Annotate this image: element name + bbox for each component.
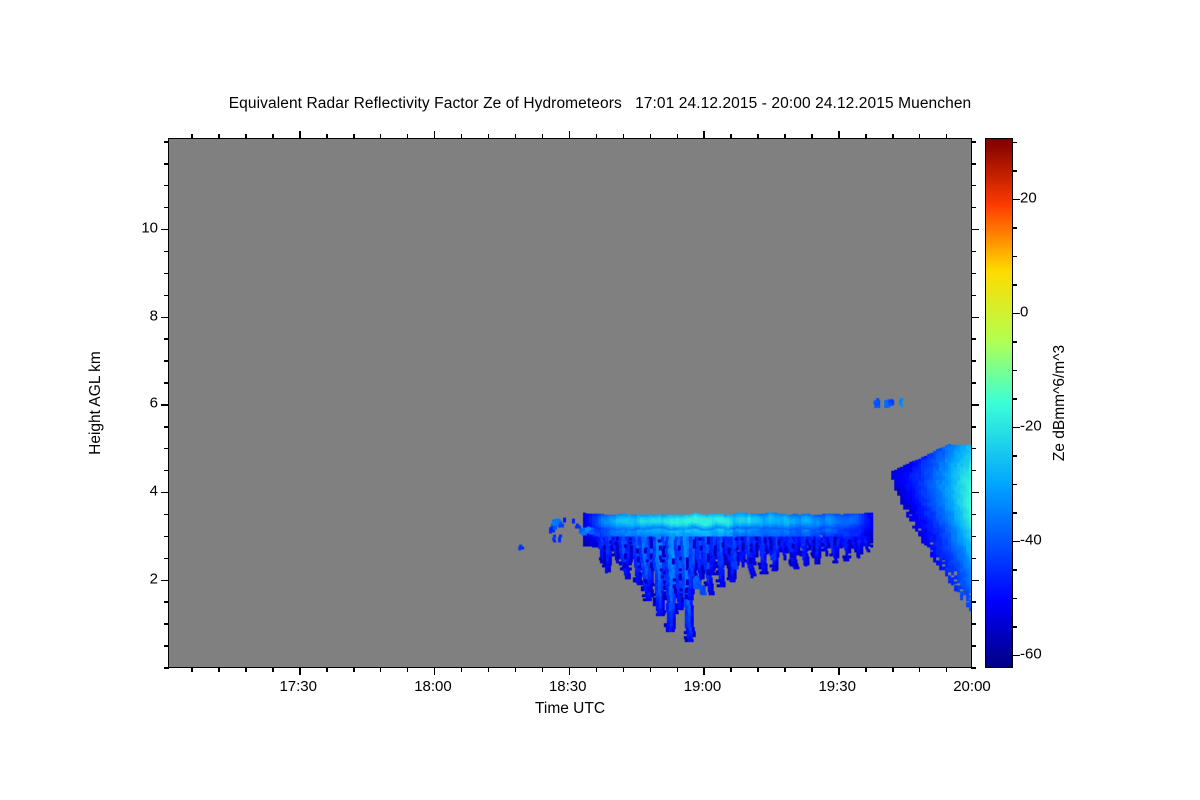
x-tick-minor (623, 667, 624, 672)
x-tick-top (919, 134, 920, 139)
x-tick-minor (650, 667, 651, 672)
x-tick-minor (865, 667, 866, 672)
colorbar-tick-major (1012, 655, 1020, 656)
y-tick-major (161, 404, 169, 405)
y-tick-major (161, 229, 169, 230)
x-tick-label: 19:30 (797, 678, 877, 695)
y-tick-label: 10 (118, 219, 158, 236)
colorbar-tick-minor (1012, 284, 1017, 285)
y-tick-right (971, 251, 976, 252)
colorbar-tick-label: 0 (1020, 303, 1028, 320)
y-tick-right (971, 492, 979, 493)
x-tick-top (677, 134, 678, 139)
x-tick-top (892, 134, 893, 139)
y-tick-right (971, 601, 976, 602)
colorbar (985, 138, 1013, 668)
y-tick-minor (164, 141, 169, 142)
x-tick-minor (811, 667, 812, 672)
y-tick-right (971, 185, 976, 186)
y-tick-minor (164, 295, 169, 296)
x-tick-minor (380, 667, 381, 672)
y-tick-right (971, 141, 976, 142)
x-tick-minor (542, 667, 543, 672)
plot-area (168, 138, 972, 668)
x-tick-top (407, 134, 408, 139)
y-tick-right (971, 448, 976, 449)
y-tick-minor (164, 207, 169, 208)
colorbar-tick-major (1012, 313, 1020, 314)
y-tick-minor (164, 536, 169, 537)
x-tick-major (838, 667, 839, 675)
y-tick-minor (164, 448, 169, 449)
colorbar-tick-minor (1012, 398, 1017, 399)
y-axis-tick-labels: 246810 (114, 138, 158, 668)
colorbar-tick-label: 20 (1020, 189, 1037, 206)
colorbar-tick-minor (1012, 484, 1017, 485)
x-tick-label: 18:30 (528, 678, 608, 695)
y-tick-label: 6 (118, 395, 158, 412)
y-tick-right (971, 667, 976, 668)
x-tick-minor (488, 667, 489, 672)
x-tick-minor (326, 667, 327, 672)
y-tick-minor (164, 251, 169, 252)
x-tick-minor (515, 667, 516, 672)
y-tick-minor (164, 338, 169, 339)
x-tick-top (218, 134, 219, 139)
x-tick-top (811, 134, 812, 139)
x-tick-major (703, 667, 704, 675)
x-tick-top (299, 131, 300, 139)
x-tick-minor (757, 667, 758, 672)
y-axis-title: Height AGL km (87, 351, 105, 455)
y-tick-right (971, 558, 976, 559)
x-axis-tick-labels: 17:3018:0018:3019:0019:3020:00 (168, 678, 972, 702)
y-tick-right (971, 338, 976, 339)
reflectivity-heatmap-canvas (169, 139, 971, 667)
x-tick-minor (892, 667, 893, 672)
x-tick-major (434, 667, 435, 675)
colorbar-tick-major (1012, 199, 1020, 200)
colorbar-tick-label: -60 (1020, 645, 1042, 662)
x-tick-top (434, 131, 435, 139)
x-tick-label: 19:00 (662, 678, 742, 695)
colorbar-tick-major (1012, 541, 1020, 542)
colorbar-tick-label: -20 (1020, 417, 1042, 434)
x-tick-minor (245, 667, 246, 672)
colorbar-tick-minor (1012, 512, 1017, 513)
y-tick-right (971, 382, 976, 383)
x-tick-minor (272, 667, 273, 672)
x-tick-top (703, 131, 704, 139)
y-tick-right (971, 207, 976, 208)
x-tick-major (299, 667, 300, 675)
x-tick-top (488, 134, 489, 139)
y-tick-minor (164, 514, 169, 515)
colorbar-tick-minor (1012, 626, 1017, 627)
y-tick-right (971, 295, 976, 296)
x-tick-top (461, 134, 462, 139)
colorbar-tick-minor (1012, 455, 1017, 456)
colorbar-tick-minor (1012, 170, 1017, 171)
y-tick-minor (164, 273, 169, 274)
y-tick-minor (164, 645, 169, 646)
y-tick-label: 4 (118, 482, 158, 499)
x-tick-top (569, 131, 570, 139)
y-tick-right (971, 317, 979, 318)
colorbar-tick-minor (1012, 569, 1017, 570)
y-tick-minor (164, 382, 169, 383)
y-tick-right (971, 645, 976, 646)
y-tick-minor (164, 601, 169, 602)
y-tick-minor (164, 623, 169, 624)
x-tick-top (596, 134, 597, 139)
y-tick-minor (164, 360, 169, 361)
colorbar-title: Ze dBmm^6/m^3 (1051, 345, 1069, 461)
x-tick-minor (919, 667, 920, 672)
x-tick-major (569, 667, 570, 675)
y-tick-major (161, 317, 169, 318)
y-tick-minor (164, 667, 169, 668)
x-tick-minor (353, 667, 354, 672)
y-tick-minor (164, 185, 169, 186)
radar-reflectivity-figure: Equivalent Radar Reflectivity Factor Ze … (0, 0, 1200, 800)
y-tick-right (971, 229, 979, 230)
x-tick-top (326, 134, 327, 139)
x-tick-minor (596, 667, 597, 672)
colorbar-tick-minor (1012, 227, 1017, 228)
y-tick-minor (164, 470, 169, 471)
x-tick-label: 20:00 (932, 678, 1012, 695)
colorbar-tick-minor (1012, 142, 1017, 143)
y-tick-right (971, 404, 979, 405)
y-tick-label: 8 (118, 307, 158, 324)
x-tick-top (272, 134, 273, 139)
y-tick-right (971, 273, 976, 274)
y-tick-right (971, 514, 976, 515)
x-tick-minor (191, 667, 192, 672)
y-tick-major (161, 580, 169, 581)
x-tick-top (650, 134, 651, 139)
x-tick-top (865, 134, 866, 139)
x-tick-top (838, 131, 839, 139)
x-tick-minor (218, 667, 219, 672)
y-tick-minor (164, 163, 169, 164)
y-tick-right (971, 580, 979, 581)
x-tick-top (353, 134, 354, 139)
x-tick-top (623, 134, 624, 139)
y-tick-right (971, 360, 976, 361)
x-tick-top (784, 134, 785, 139)
y-tick-right (971, 163, 976, 164)
x-tick-minor (730, 667, 731, 672)
x-axis-title: Time UTC (0, 700, 1140, 718)
y-tick-label: 2 (118, 570, 158, 587)
x-tick-top (730, 134, 731, 139)
colorbar-tick-major (1012, 427, 1020, 428)
y-tick-right (971, 470, 976, 471)
colorbar-tick-minor (1012, 341, 1017, 342)
x-tick-label: 17:30 (258, 678, 338, 695)
x-tick-minor (784, 667, 785, 672)
x-tick-top (245, 134, 246, 139)
colorbar-tick-minor (1012, 598, 1017, 599)
y-tick-right (971, 426, 976, 427)
colorbar-tick-minor (1012, 256, 1017, 257)
x-tick-top (757, 134, 758, 139)
x-tick-top (946, 134, 947, 139)
y-tick-minor (164, 558, 169, 559)
x-tick-minor (677, 667, 678, 672)
y-tick-minor (164, 426, 169, 427)
x-tick-minor (946, 667, 947, 672)
y-tick-right (971, 623, 976, 624)
x-tick-top (380, 134, 381, 139)
colorbar-tick-minor (1012, 370, 1017, 371)
colorbar-gradient (986, 139, 1012, 667)
x-tick-label: 18:00 (393, 678, 473, 695)
y-tick-major (161, 492, 169, 493)
x-tick-top (191, 134, 192, 139)
x-tick-top (542, 134, 543, 139)
x-tick-top (515, 134, 516, 139)
x-tick-minor (461, 667, 462, 672)
colorbar-tick-label: -40 (1020, 531, 1042, 548)
y-tick-right (971, 536, 976, 537)
x-tick-minor (407, 667, 408, 672)
figure-title: Equivalent Radar Reflectivity Factor Ze … (0, 95, 1200, 113)
